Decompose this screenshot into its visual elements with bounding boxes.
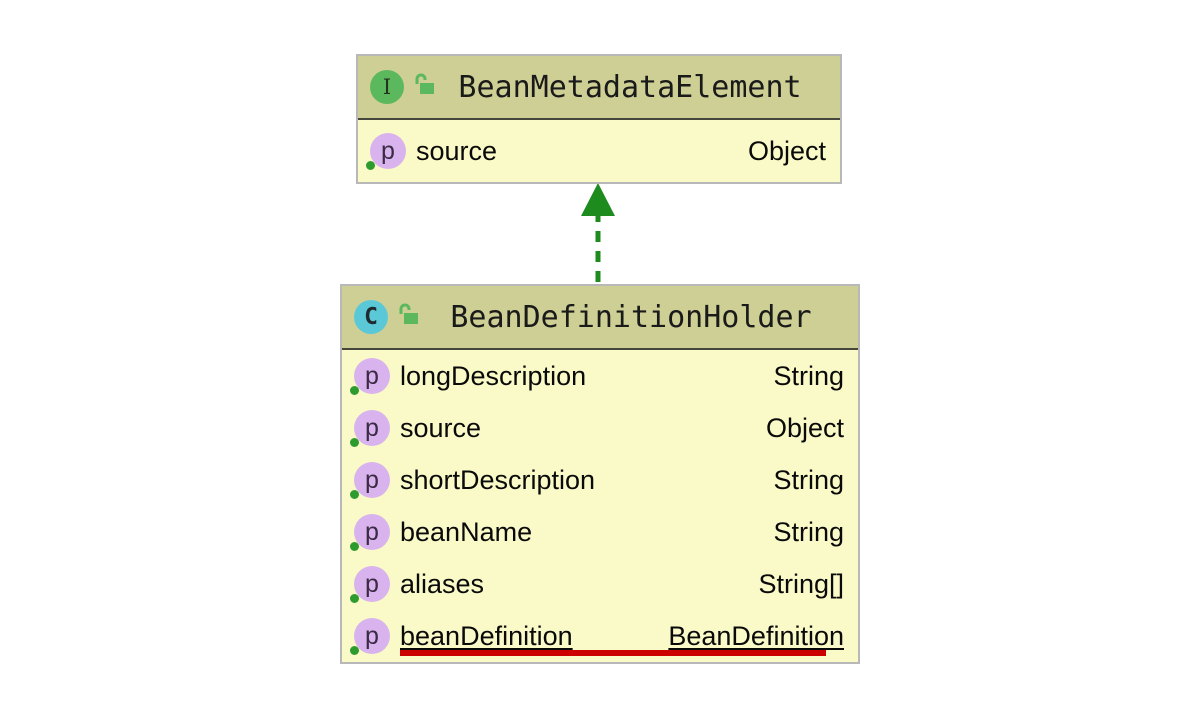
member-type: Object (766, 413, 844, 444)
property-icon-letter: p (365, 572, 379, 597)
visibility-dot-icon (350, 542, 359, 551)
member-row-highlighted[interactable]: p beanDefinition BeanDefinition (342, 610, 858, 662)
class-box-bean-definition-holder[interactable]: C BeanDefinitionHolder p longDescription… (340, 284, 860, 664)
member-row[interactable]: p longDescription String (342, 350, 858, 402)
member-name: beanName (400, 517, 532, 548)
class-name-bean-definition-holder: BeanDefinitionHolder (420, 300, 858, 335)
class-header-bean-definition-holder: C BeanDefinitionHolder (342, 286, 858, 350)
member-type: BeanDefinition (668, 621, 844, 652)
member-name: longDescription (400, 361, 586, 392)
property-icon-letter: p (365, 624, 379, 649)
member-type: String (773, 465, 844, 496)
visibility-dot-icon (366, 161, 375, 170)
property-icon-letter: p (365, 520, 379, 545)
visibility-dot-icon (350, 594, 359, 603)
property-icon-letter: p (381, 139, 395, 164)
realization-arrowhead (581, 183, 615, 216)
member-name: beanDefinition (400, 621, 573, 652)
property-icon: p (354, 462, 390, 498)
member-name: source (400, 413, 481, 444)
property-icon-letter: p (365, 364, 379, 389)
member-row[interactable]: p aliases String[] (342, 558, 858, 610)
property-icon: p (354, 514, 390, 550)
member-row[interactable]: p source Object (342, 402, 858, 454)
property-icon: p (370, 133, 406, 169)
highlight-underline (400, 650, 826, 656)
member-name: shortDescription (400, 465, 595, 496)
member-row[interactable]: p source Object (358, 120, 840, 182)
member-type: String[] (758, 569, 844, 600)
property-icon: p (354, 566, 390, 602)
member-type: Object (748, 136, 826, 167)
interface-icon: I (370, 70, 404, 104)
unlocked-padlock-icon (396, 302, 420, 333)
member-name: aliases (400, 569, 484, 600)
visibility-dot-icon (350, 386, 359, 395)
member-type: String (773, 361, 844, 392)
class-members-bean-definition-holder: p longDescription String p source Object… (342, 350, 858, 662)
member-name: source (416, 136, 497, 167)
member-row[interactable]: p shortDescription String (342, 454, 858, 506)
class-header-bean-metadata-element: I BeanMetadataElement (358, 56, 840, 120)
member-type: String (773, 517, 844, 548)
class-name-bean-metadata-element: BeanMetadataElement (436, 70, 840, 105)
property-icon-letter: p (365, 468, 379, 493)
property-icon-letter: p (365, 416, 379, 441)
visibility-dot-icon (350, 490, 359, 499)
property-icon: p (354, 618, 390, 654)
class-icon: C (354, 300, 388, 334)
class-box-bean-metadata-element[interactable]: I BeanMetadataElement p source Object (356, 54, 842, 184)
unlocked-padlock-icon (412, 72, 436, 103)
member-row[interactable]: p beanName String (342, 506, 858, 558)
property-icon: p (354, 410, 390, 446)
visibility-dot-icon (350, 438, 359, 447)
visibility-dot-icon (350, 646, 359, 655)
property-icon: p (354, 358, 390, 394)
class-members-bean-metadata-element: p source Object (358, 120, 840, 182)
